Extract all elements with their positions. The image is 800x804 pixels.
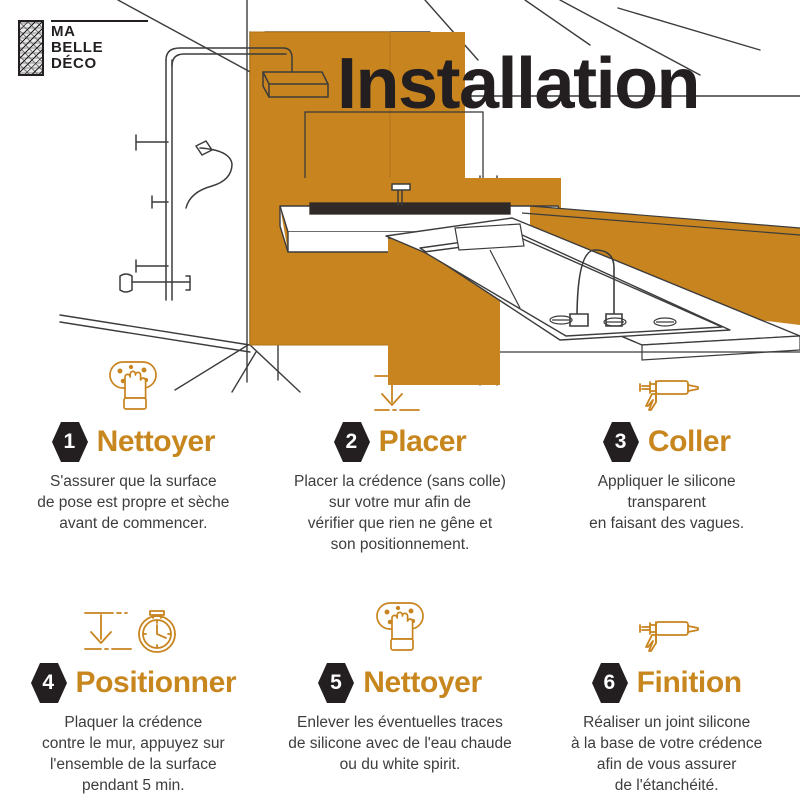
step-number-3: 3: [603, 422, 639, 462]
step-badge-1: 1: [52, 422, 88, 462]
step-title-5: Nettoyer: [363, 668, 482, 698]
step-description-2: Placer la crédence (sans colle)sur votre…: [294, 471, 506, 555]
step-header-3: 3 Coller: [603, 422, 731, 462]
step-description-4: Plaquer la crédencecontre le mur, appuye…: [42, 712, 225, 796]
step-description-3: Appliquer le siliconetransparenten faisa…: [589, 471, 744, 534]
step-number-5: 5: [318, 663, 354, 703]
step-number-4: 4: [31, 663, 67, 703]
shower-hose: [186, 148, 232, 208]
shower-bracket: [136, 135, 168, 150]
step-number-2: 2: [334, 422, 370, 462]
step-title-2: Placer: [379, 427, 467, 457]
sponge-hand-icon: [368, 593, 432, 657]
floor-line-left: [60, 315, 250, 345]
step-card-4: 4 Positionner Plaquer la crédencecontre …: [0, 563, 267, 804]
caulking-gun-icon: [628, 352, 706, 416]
bathtub-headrest: [455, 224, 524, 250]
caulking-gun-icon: [628, 593, 706, 657]
step-title-1: Nettoyer: [97, 427, 216, 457]
floor-line-left: [60, 322, 250, 352]
step-card-2: 2 Placer Placer la crédence (sans colle)…: [267, 352, 534, 563]
step-title-6: Finition: [637, 668, 742, 698]
down-arrow-between-lines-icon: [367, 352, 433, 416]
step-badge-5: 5: [318, 663, 354, 703]
step-header-5: 5 Nettoyer: [318, 663, 482, 703]
step-header-6: 6 Finition: [592, 663, 742, 703]
steps-grid: 1 Nettoyer S'assurer que la surfacede po…: [0, 352, 800, 804]
step-header-2: 2 Placer: [334, 422, 467, 462]
page-title: Installation: [337, 48, 699, 120]
step-header-1: 1 Nettoyer: [52, 422, 216, 462]
step-number-1: 1: [52, 422, 88, 462]
step-badge-4: 4: [31, 663, 67, 703]
shower-mixer: [120, 274, 132, 292]
step-number-6: 6: [592, 663, 628, 703]
shower-bracket: [136, 260, 168, 272]
step-title-4: Positionner: [76, 668, 237, 698]
ceiling-line: [118, 0, 265, 80]
step-badge-3: 3: [603, 422, 639, 462]
step-card-5: 5 Nettoyer Enlever les éventuelles trace…: [267, 563, 534, 804]
sponge-hand-icon: [101, 352, 165, 416]
washbasin-bowl: [310, 203, 510, 214]
arrow-stopwatch-icon: [79, 593, 187, 657]
step-description-5: Enlever les éventuelles tracesde silicon…: [288, 712, 512, 775]
step-header-4: 4 Positionner: [31, 663, 237, 703]
step-description-6: Réaliser un joint siliconeà la base de v…: [571, 712, 762, 796]
step-card-3: 3 Coller Appliquer le siliconetransparen…: [533, 352, 800, 563]
step-card-1: 1 Nettoyer S'assurer que la surfacede po…: [0, 352, 267, 563]
step-badge-6: 6: [592, 663, 628, 703]
step-card-6: 6 Finition Réaliser un joint siliconeà l…: [533, 563, 800, 804]
ceiling-line: [525, 0, 590, 45]
step-badge-2: 2: [334, 422, 370, 462]
step-description-1: S'assurer que la surfacede pose est prop…: [37, 471, 229, 534]
step-title-3: Coller: [648, 427, 731, 457]
